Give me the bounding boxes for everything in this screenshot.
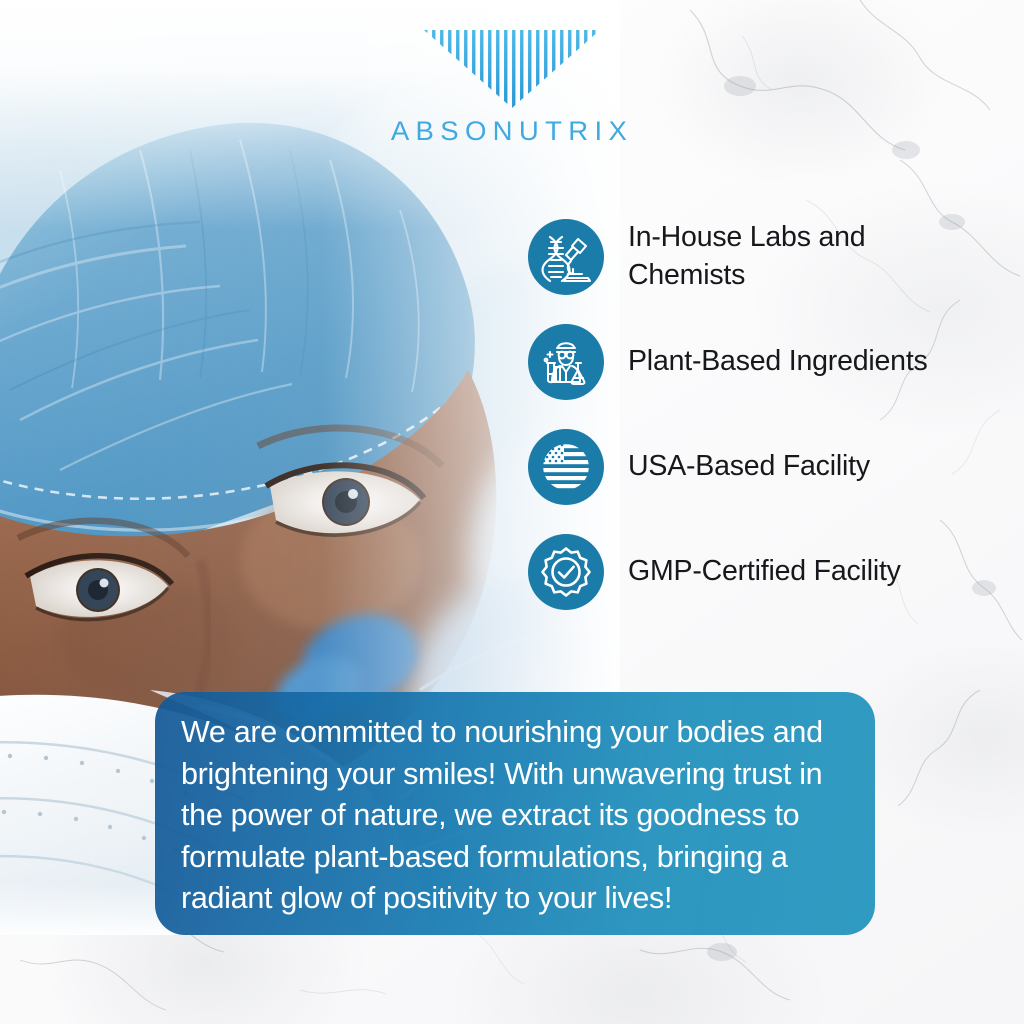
brand-wordmark: ABSONUTRIX [0, 116, 1024, 147]
striped-triangle-logo-icon [412, 26, 612, 112]
mission-statement-box: We are committed to nourishing your bodi… [155, 692, 875, 935]
feature-item-usa: USA-Based Facility [528, 414, 998, 519]
chemist-scientist-flask-icon [528, 324, 604, 400]
usa-flag-circle-icon [528, 429, 604, 505]
brand-logo: ABSONUTRIX [0, 26, 1024, 147]
mission-statement-text: We are committed to nourishing your bodi… [181, 712, 845, 920]
feature-list: In-House Labs and Chemists [528, 204, 998, 624]
feature-item-labs: In-House Labs and Chemists [528, 204, 998, 309]
feature-item-gmp: GMP-Certified Facility [528, 519, 998, 624]
feature-item-plant-based: Plant-Based Ingredients [528, 309, 998, 414]
poster-canvas: ABSONUTRIX [0, 0, 1024, 1024]
dna-microscope-icon [528, 219, 604, 295]
feature-label-usa: USA-Based Facility [628, 448, 870, 486]
feature-label-gmp: GMP-Certified Facility [628, 553, 901, 591]
certified-badge-check-icon [528, 534, 604, 610]
feature-label-labs: In-House Labs and Chemists [628, 219, 978, 295]
feature-label-plant-based: Plant-Based Ingredients [628, 343, 928, 381]
